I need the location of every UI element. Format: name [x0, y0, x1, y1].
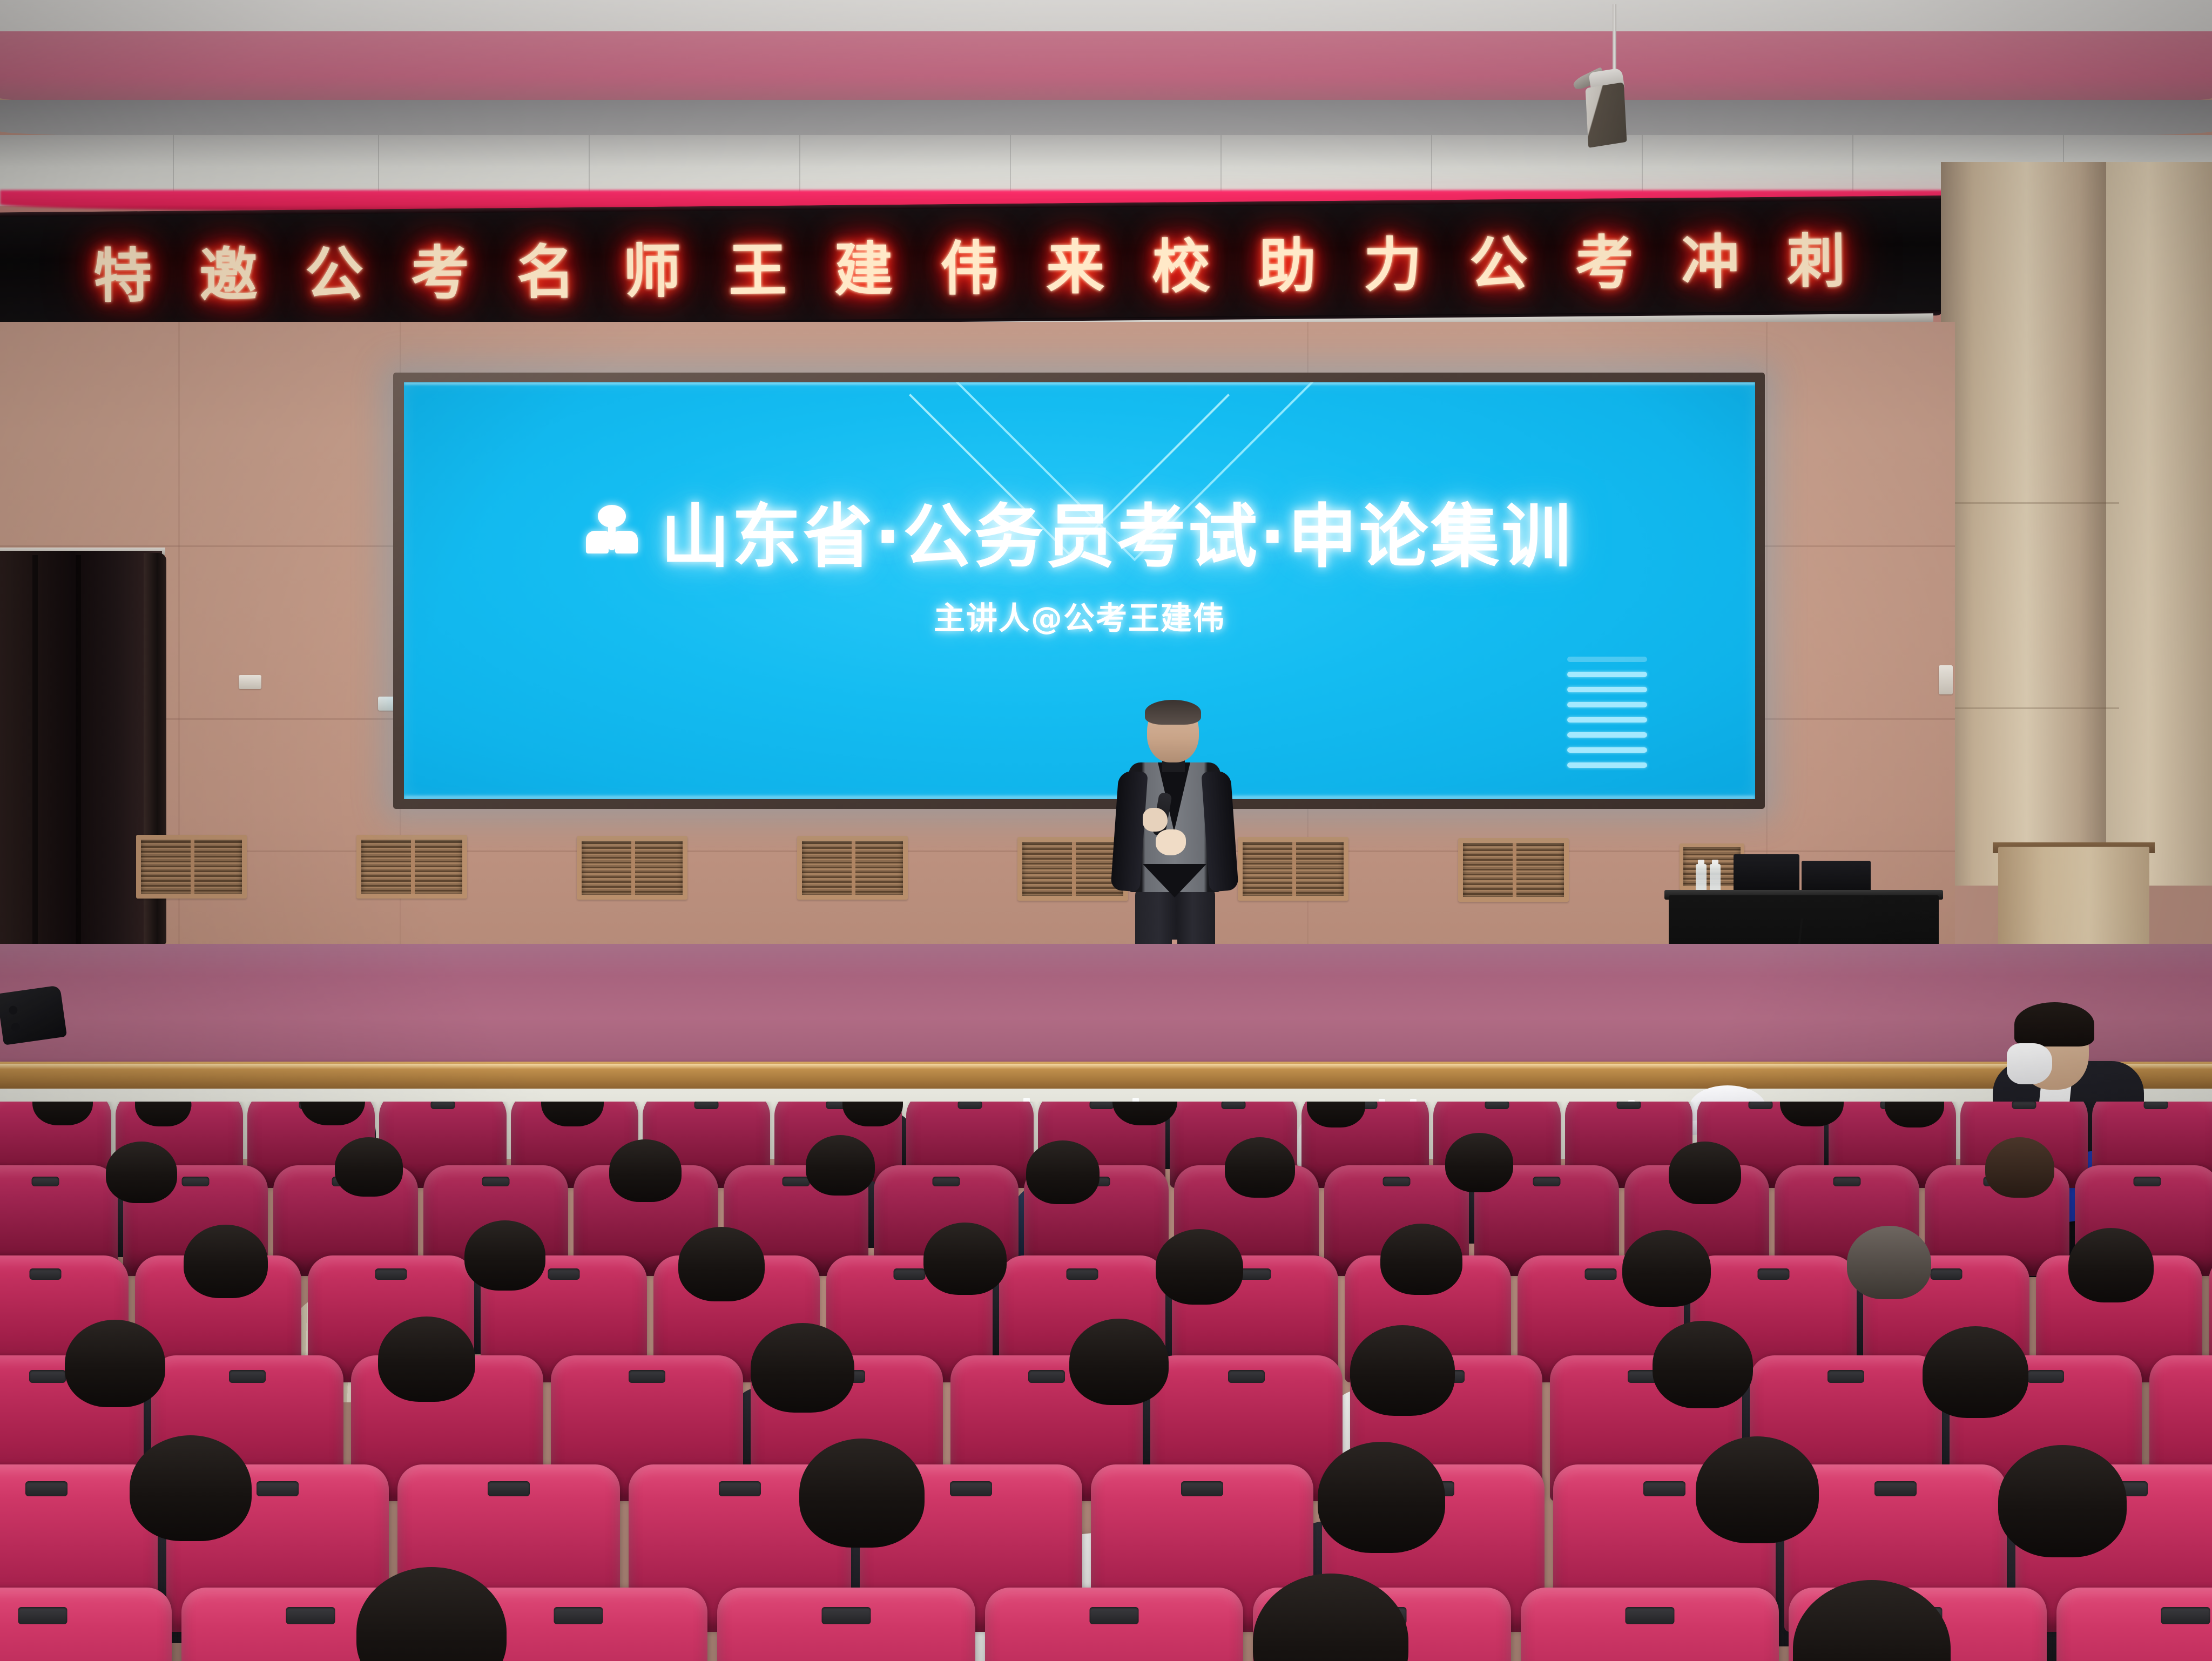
audience-member-head [806, 1135, 875, 1196]
seat-handle[interactable] [1931, 1268, 1963, 1280]
led-banner-char: 公 [1469, 217, 1528, 302]
stripe-decor [1567, 717, 1647, 723]
seat-handle[interactable] [25, 1481, 68, 1496]
audience-member-head [184, 1225, 268, 1298]
led-banner-char: 公 [305, 227, 363, 312]
seat-handle[interactable] [1833, 1177, 1861, 1186]
stripe-decor [1567, 657, 1647, 662]
audience-member-head [65, 1320, 165, 1407]
led-banner-char: 助 [1257, 219, 1316, 303]
audience-member-head [1225, 1137, 1295, 1198]
audience-member-head [1156, 1229, 1243, 1305]
led-banner-char: 刺 [1786, 214, 1845, 299]
audience-member-head [1445, 1133, 1513, 1192]
seat-handle[interactable] [1749, 1102, 1773, 1109]
seat-handle[interactable] [554, 1607, 603, 1624]
audience-member-head [1380, 1224, 1462, 1295]
seat-handle[interactable] [1874, 1481, 1917, 1496]
right-wall-column-edge [2106, 162, 2212, 886]
wall-vent [797, 836, 908, 900]
curtain-fold [76, 555, 81, 947]
seat-handle[interactable] [1090, 1607, 1139, 1624]
seat-handle[interactable] [933, 1177, 960, 1186]
stripe-decor-group [1567, 657, 1647, 768]
face-mask-icon [2007, 1043, 2052, 1084]
led-banner-char: 冲 [1681, 215, 1739, 300]
ceiling-spotlight-icon [1586, 82, 1627, 148]
led-banner-char: 力 [1363, 218, 1422, 303]
led-scrolling-banner: 特邀公考名师王建伟来校助力公考冲刺 [0, 195, 1945, 333]
audience-member-head [1069, 1319, 1169, 1405]
audience-member-head [1318, 1442, 1445, 1553]
presentation-screen[interactable]: 山东省·公务员考试·申论集训 主讲人@公考王建伟 [404, 382, 1755, 799]
column-seam [1941, 707, 2119, 709]
wall-switch-plate[interactable] [239, 675, 261, 689]
auditorium-seat[interactable] [2056, 1588, 2212, 1661]
led-banner-char: 伟 [940, 221, 999, 306]
stage-floor-sheen [0, 944, 2212, 976]
audience-member-head [1622, 1230, 1711, 1307]
curtain-fold [32, 555, 38, 947]
led-banner-char: 王 [728, 224, 787, 308]
audience-member-head [378, 1316, 475, 1402]
seat-handle[interactable] [822, 1607, 871, 1624]
led-banner-char: 建 [834, 222, 893, 307]
seat-handle[interactable] [18, 1607, 68, 1624]
auditorium-seat[interactable] [985, 1588, 1243, 1661]
stripe-decor [1567, 762, 1647, 768]
seat-handle[interactable] [257, 1481, 299, 1496]
wall-switch-plate[interactable] [1939, 665, 1953, 694]
audience-member-head [1998, 1445, 2127, 1557]
wall-seam [0, 850, 1955, 852]
seat-handle[interactable] [1181, 1481, 1223, 1496]
audience-member-head [1923, 1326, 2028, 1418]
led-banner-char: 考 [410, 226, 469, 311]
seat-handle[interactable] [629, 1370, 665, 1383]
standing-attendee-hair [2014, 1002, 2094, 1046]
seat-handle[interactable] [1239, 1268, 1271, 1280]
seat-handle[interactable] [229, 1370, 266, 1383]
audience-member-head [751, 1323, 854, 1413]
seat-handle[interactable] [182, 1177, 210, 1186]
seat-handle[interactable] [488, 1481, 530, 1496]
audience-member-head [1985, 1137, 2054, 1198]
seat-handle[interactable] [375, 1268, 407, 1280]
presentation-subtitle: 主讲人@公考王建伟 [404, 593, 1755, 638]
seat-handle[interactable] [1626, 1607, 1675, 1624]
wall-vent [1458, 838, 1569, 902]
seat-handle[interactable] [2027, 1370, 2064, 1383]
seat-handle[interactable] [2161, 1607, 2210, 1624]
auditorium-seat[interactable] [717, 1588, 975, 1661]
seat-handle[interactable] [1758, 1268, 1790, 1280]
screen-bottom-glow [404, 796, 1755, 799]
stripe-decor [1567, 747, 1647, 753]
seat-handle[interactable] [1222, 1102, 1246, 1109]
business-person-icon [586, 503, 638, 559]
stripe-decor [1567, 687, 1647, 692]
audience-member-head [1847, 1226, 1931, 1299]
led-banner-char: 考 [1575, 216, 1634, 301]
stage-trim-highlight [0, 1064, 2212, 1069]
wall-vent [356, 835, 467, 899]
led-banner-char: 名 [516, 225, 575, 310]
seat-handle[interactable] [1585, 1268, 1617, 1280]
audience-seating-area [0, 1102, 2212, 1661]
audience-member-head [2068, 1228, 2154, 1302]
audience-member-head [1350, 1325, 1455, 1416]
column-seam [1941, 502, 2119, 504]
audience-member-head [1653, 1321, 1753, 1408]
audience-member-head [464, 1220, 545, 1291]
led-banner-char: 特 [93, 229, 152, 314]
seat-handle[interactable] [30, 1268, 62, 1280]
seat-handle[interactable] [2134, 1177, 2161, 1186]
seat-handle[interactable] [1090, 1102, 1114, 1109]
audience-member-head [1696, 1436, 1819, 1543]
seat-handle[interactable] [894, 1268, 926, 1280]
audience-member-head [799, 1439, 925, 1548]
auditorium-seat[interactable] [0, 1588, 172, 1661]
stripe-decor [1567, 702, 1647, 707]
led-banner-char: 师 [622, 225, 681, 309]
right-wall-column [1941, 162, 2119, 886]
seat-handle[interactable] [286, 1607, 335, 1624]
audience-member-head [678, 1227, 765, 1301]
seat-handle[interactable] [694, 1102, 719, 1109]
seat-handle[interactable] [29, 1370, 66, 1383]
seat-handle[interactable] [1617, 1102, 1641, 1109]
led-banner-char: 来 [1046, 221, 1104, 306]
stripe-decor [1567, 672, 1647, 677]
auditorium-photo: 特邀公考名师王建伟来校助力公考冲刺 [0, 0, 2212, 1661]
screen-title-row: 山东省·公务员考试·申论集训 [404, 481, 1755, 580]
seat-handle[interactable] [2012, 1102, 2036, 1109]
seat-handle[interactable] [719, 1481, 761, 1496]
led-banner-char: 校 [1151, 220, 1210, 305]
seat-handle[interactable] [1383, 1177, 1411, 1186]
seat-handle[interactable] [32, 1177, 59, 1186]
seat-handle[interactable] [1485, 1102, 1509, 1109]
audience-member-head [335, 1137, 403, 1197]
seat-handle[interactable] [1643, 1481, 1685, 1496]
stripe-decor [1567, 732, 1647, 738]
seat-handle[interactable] [431, 1102, 455, 1109]
seat-handle[interactable] [482, 1177, 510, 1186]
wall-vent [136, 835, 247, 899]
audience-member-head [609, 1139, 682, 1202]
audience-member-head [106, 1142, 177, 1203]
audience-member-head [1669, 1142, 1741, 1204]
seat-handle[interactable] [783, 1177, 810, 1186]
audience-member-head [130, 1435, 252, 1541]
seat-handle[interactable] [1228, 1370, 1265, 1383]
seat-handle[interactable] [958, 1102, 982, 1109]
seat-handle[interactable] [2144, 1102, 2168, 1109]
audience-member-head [923, 1223, 1007, 1295]
seat-handle[interactable] [1028, 1370, 1065, 1383]
seat-handle[interactable] [950, 1481, 992, 1496]
led-banner-char: 邀 [199, 228, 258, 313]
auditorium-seat[interactable] [1521, 1588, 1779, 1661]
seat-handle[interactable] [548, 1268, 580, 1280]
presentation-title: 山东省·公务员考试·申论集训 [660, 481, 1573, 580]
seat-handle[interactable] [1067, 1268, 1098, 1280]
wall-vent [577, 836, 687, 900]
led-banner-text: 特邀公考名师王建伟来校助力公考冲刺 [0, 195, 1945, 333]
seat-handle[interactable] [1827, 1370, 1864, 1383]
seat-handle[interactable] [1533, 1177, 1561, 1186]
audience-member-head [1026, 1140, 1100, 1204]
spotlight-rod-icon [1613, 4, 1616, 75]
stage-floor-monitor-speaker [0, 985, 67, 1045]
